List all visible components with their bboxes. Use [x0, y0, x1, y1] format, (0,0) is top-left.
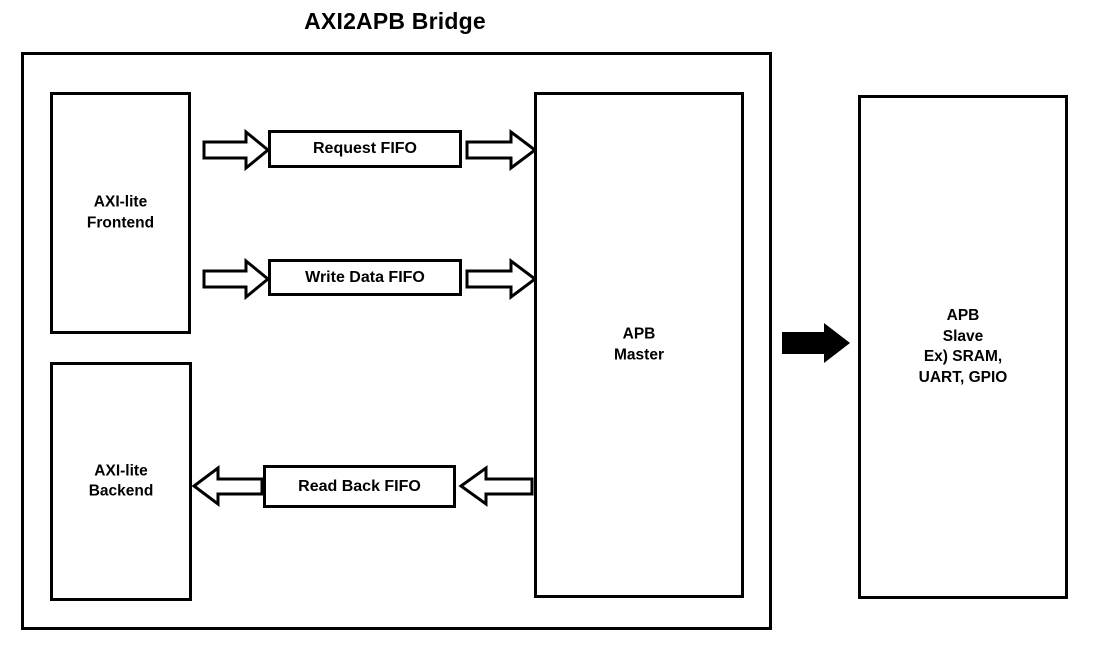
block-label-request-fifo: Request FIFO — [313, 140, 417, 158]
arrow-frontend-to-request-fifo-icon — [202, 128, 270, 172]
block-axi-lite-backend: AXI-lite Backend — [50, 362, 192, 601]
block-label-axi-lite-frontend: AXI-lite Frontend — [53, 192, 188, 233]
block-label-read-back-fifo: Read Back FIFO — [298, 478, 421, 496]
block-label-axi-lite-backend: AXI-lite Backend — [53, 461, 189, 502]
page-title: AXI2APB Bridge — [0, 8, 790, 35]
block-apb-slave: APB Slave Ex) SRAM, UART, GPIO — [858, 95, 1068, 599]
arrow-read-back-fifo-to-backend-icon — [192, 463, 264, 509]
block-request-fifo: Request FIFO — [268, 130, 462, 168]
block-apb-master: APB Master — [534, 92, 744, 598]
arrow-frontend-to-write-data-fifo-icon — [202, 257, 270, 301]
block-read-back-fifo: Read Back FIFO — [263, 465, 456, 508]
arrow-bridge-to-apb-slave-icon — [780, 322, 852, 366]
arrow-apb-master-to-read-back-fifo-icon — [458, 463, 534, 509]
block-axi-lite-frontend: AXI-lite Frontend — [50, 92, 191, 334]
arrow-request-fifo-to-apb-master-icon — [465, 128, 537, 172]
block-write-data-fifo: Write Data FIFO — [268, 259, 462, 296]
arrow-write-data-fifo-to-apb-master-icon — [465, 257, 537, 301]
block-label-apb-slave: APB Slave Ex) SRAM, UART, GPIO — [861, 306, 1065, 388]
block-label-apb-master: APB Master — [537, 324, 741, 365]
block-label-write-data-fifo: Write Data FIFO — [305, 269, 425, 287]
diagram-canvas: AXI2APB Bridge AXI-lite Frontend AXI-lit… — [0, 0, 1095, 655]
